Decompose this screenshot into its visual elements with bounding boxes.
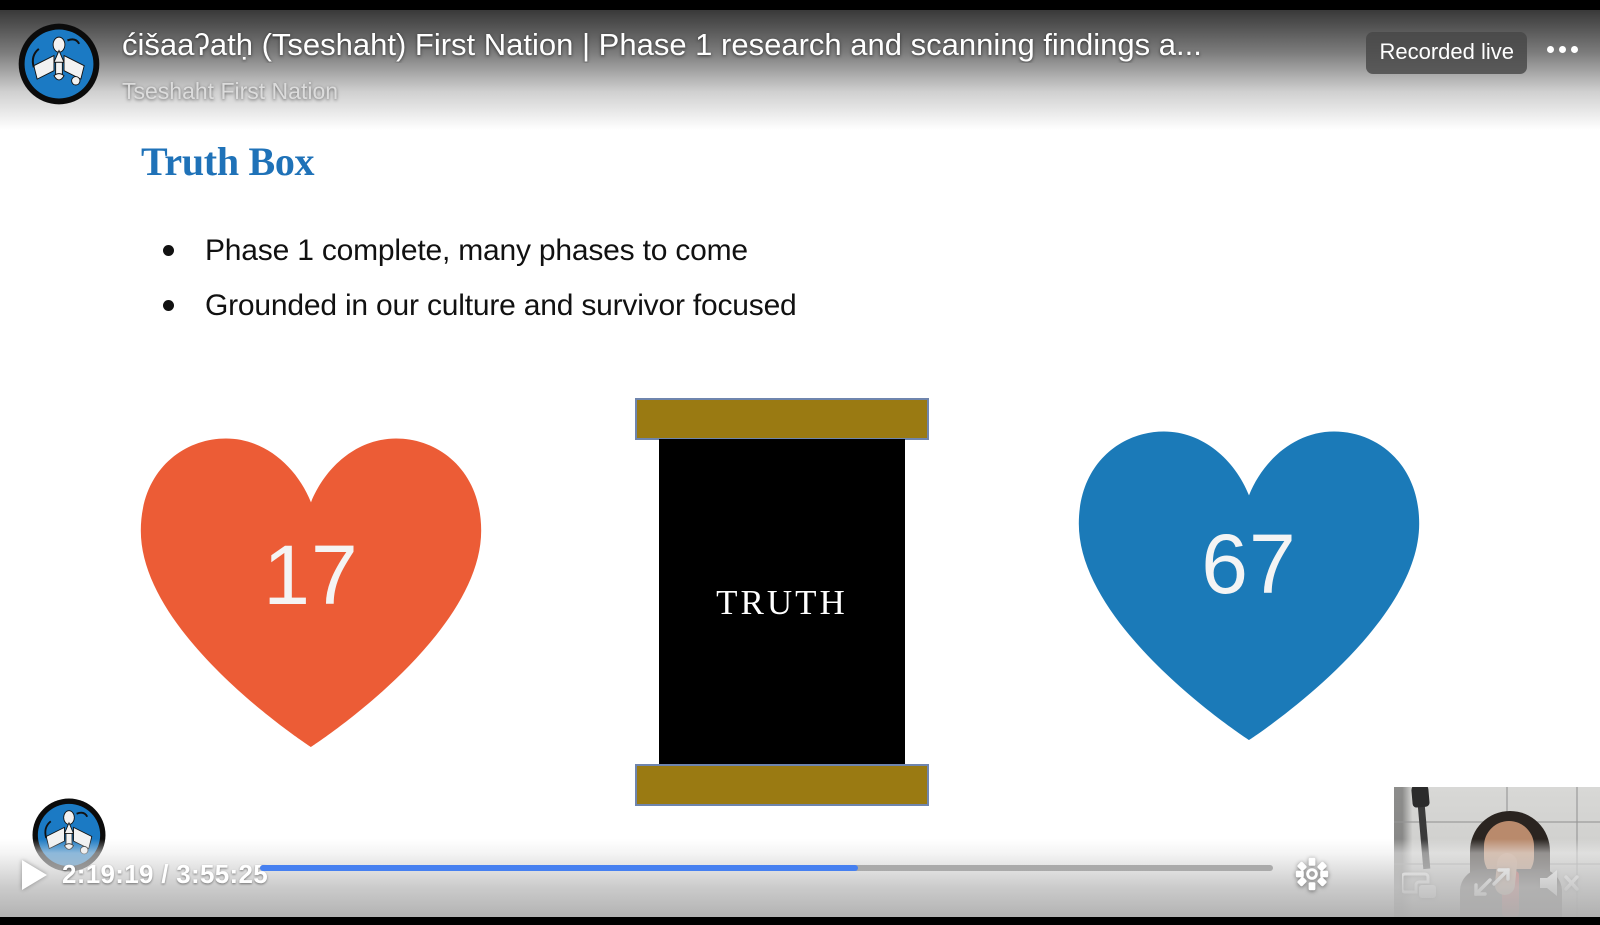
bottom-letterbox [0, 917, 1600, 925]
ellipsis-icon[interactable] [1538, 27, 1586, 71]
slide-canvas: Truth Box Phase 1 complete, many phases … [0, 10, 1600, 917]
list-item: Phase 1 complete, many phases to come [163, 232, 1063, 270]
bullet-text: Phase 1 complete, many phases to come [205, 232, 748, 270]
heart-left-value: 17 [132, 527, 490, 624]
heart-right-value: 67 [1070, 516, 1428, 613]
truth-box-label: TRUTH [716, 583, 848, 623]
truth-box-graphic: TRUTH [635, 398, 929, 806]
video-player[interactable]: Truth Box Phase 1 complete, many phases … [0, 0, 1600, 925]
settings-button[interactable] [1291, 853, 1333, 895]
channel-avatar[interactable] [17, 22, 101, 106]
bullet-dot-icon [163, 300, 174, 311]
progress-fill [260, 865, 858, 871]
status-badge: Recorded live [1366, 32, 1527, 74]
video-header: ćišaaʔatḥ (Tseshaht) First Nation | Phas… [0, 10, 1600, 130]
bullet-dot-icon [163, 245, 174, 256]
slide-title: Truth Box [141, 138, 314, 185]
heart-shape-right: 67 [1070, 428, 1428, 740]
truth-box-top-band [635, 398, 929, 440]
bullet-text: Grounded in our culture and survivor foc… [205, 287, 797, 325]
channel-name[interactable]: Tseshaht First Nation [122, 78, 338, 105]
play-icon [22, 860, 47, 890]
video-title[interactable]: ćišaaʔatḥ (Tseshaht) First Nation | Phas… [122, 27, 1307, 63]
slide-bullet-list: Phase 1 complete, many phases to come Gr… [163, 232, 1063, 341]
tseshaht-crest-logo-icon [17, 22, 101, 106]
play-button[interactable] [12, 853, 56, 897]
player-controls: 2:19:19 / 3:55:25 [0, 839, 1600, 917]
list-item: Grounded in our culture and survivor foc… [163, 287, 1063, 325]
truth-box-bottom-band [635, 764, 929, 806]
top-letterbox [0, 0, 1600, 10]
time-display: 2:19:19 / 3:55:25 [62, 859, 268, 890]
gear-icon [1295, 857, 1329, 891]
progress-scrubber[interactable] [260, 865, 1273, 871]
heart-shape-left: 17 [132, 435, 490, 747]
truth-box-body: TRUTH [659, 439, 905, 766]
